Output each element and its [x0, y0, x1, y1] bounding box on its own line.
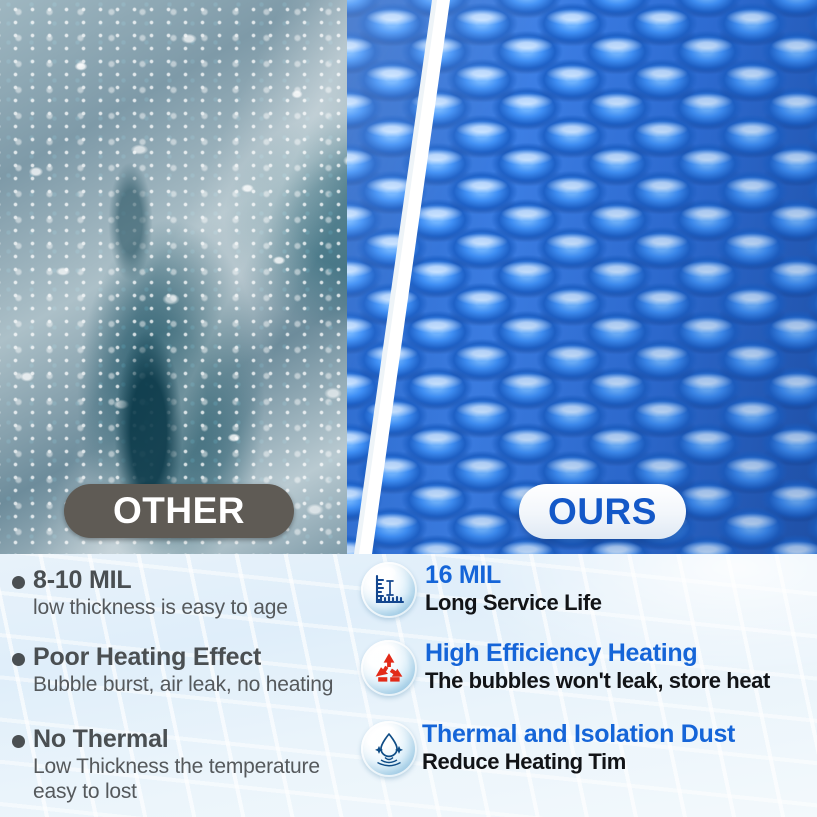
ours-feature-title: 16 MIL: [425, 562, 602, 589]
product-comparison-infographic: OTHER OURS 8-10 MIL low thickness is eas…: [0, 0, 817, 817]
ours-feature-row-3: Thermal and Isolation Dust Reduce Heatin…: [422, 721, 817, 774]
features-section: 8-10 MIL low thickness is easy to age Po…: [0, 554, 817, 817]
ours-label-pill: OURS: [519, 484, 686, 539]
other-label-pill: OTHER: [64, 484, 294, 538]
other-feature-desc: low thickness is easy to age: [33, 596, 288, 621]
other-feature-row-3: No Thermal Low Thickness the temperature…: [12, 726, 342, 805]
other-feature-desc: Low Thickness the temperature easy to lo…: [33, 755, 342, 805]
other-feature-title: 8-10 MIL: [33, 567, 288, 594]
ours-feature-desc: Reduce Heating Tim: [422, 749, 735, 774]
other-feature-title: Poor Heating Effect: [33, 644, 333, 671]
ours-feature-title: Thermal and Isolation Dust: [422, 721, 735, 748]
ours-label-text: OURS: [548, 491, 657, 533]
water-drop-icon: [361, 721, 417, 777]
bullet-icon: [12, 653, 25, 666]
ours-feature-row-1: 16 MIL Long Service Life: [425, 562, 815, 615]
hero-comparison-section: OTHER OURS: [0, 0, 817, 554]
other-feature-desc: Bubble burst, air leak, no heating: [33, 673, 333, 698]
ours-feature-row-2: High Efficiency Heating The bubbles won'…: [425, 640, 817, 693]
recycle-icon: [361, 640, 417, 696]
other-label-text: OTHER: [113, 490, 245, 532]
ours-feature-desc: The bubbles won't leak, store heat: [425, 668, 770, 693]
ours-feature-title: High Efficiency Heating: [425, 640, 770, 667]
ruler-icon: [361, 562, 417, 618]
ours-product-photo: [347, 0, 817, 554]
ours-feature-desc: Long Service Life: [425, 590, 602, 615]
bullet-icon: [12, 735, 25, 748]
other-feature-title: No Thermal: [33, 726, 342, 753]
other-feature-row-2: Poor Heating Effect Bubble burst, air le…: [12, 644, 356, 698]
other-feature-row-1: 8-10 MIL low thickness is easy to age: [12, 567, 352, 621]
bullet-icon: [12, 576, 25, 589]
